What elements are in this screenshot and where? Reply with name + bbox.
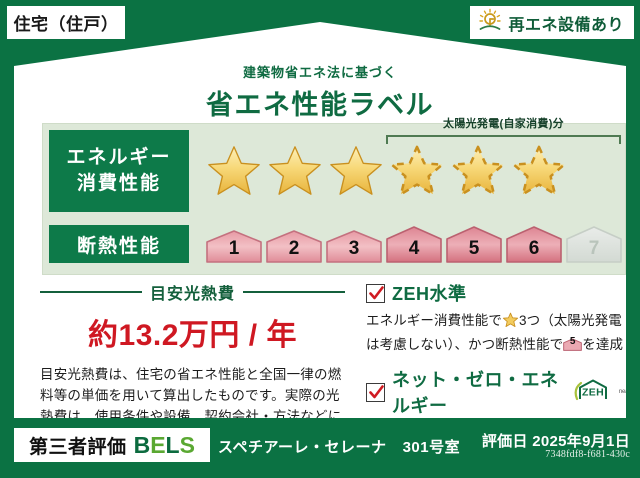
checkbox-checked-icon	[366, 284, 385, 303]
star-icon	[502, 312, 519, 334]
renewable-equipment-badge: 再エネ設備あり	[470, 6, 634, 39]
energy-star-rating: 太陽光発電(自家消費)分	[205, 143, 568, 199]
performance-panel: エネルギー 消費性能 太陽光発電(自家消費)分	[42, 123, 626, 275]
zeh-standard-title: ZEH水準	[392, 280, 467, 306]
label-sheet: 建築物省エネ法に基づく 省エネ性能ラベル エネルギー 消費性能 太陽光発電(自家…	[14, 22, 626, 418]
star-solar-6	[510, 143, 568, 199]
insulation-badge-4: 4	[385, 224, 443, 264]
star-filled-2	[266, 143, 324, 199]
insulation-badge-3: 3	[325, 228, 383, 264]
insulation-badge-2: 2	[265, 228, 323, 264]
zeh-standard-description: エネルギー消費性能で3つ（太陽光発電は考慮しない）、かつ断熱性能で5を達成	[366, 310, 634, 355]
utility-cost-heading: 目安光熱費	[40, 280, 345, 304]
energy-performance-row: エネルギー 消費性能 太陽光発電(自家消費)分	[49, 130, 568, 212]
star-filled-1	[205, 143, 263, 199]
housing-type-text: 住宅（住戸）	[14, 10, 119, 35]
solar-bracket: 太陽光発電(自家消費)分	[386, 117, 621, 143]
bels-logo: BELS	[134, 432, 195, 459]
title-subtitle: 建築物省エネ法に基づく	[14, 62, 626, 81]
insulation-badge-1: 1	[205, 228, 263, 264]
inline-insulation-badge-5: 5	[563, 336, 582, 353]
energy-performance-label: 住宅（住戸） 再エネ設備あり	[0, 0, 640, 478]
zeh-standard-claim: ZEH水準	[366, 280, 634, 306]
evaluation-date: 評価日 2025年9月1日	[482, 430, 630, 451]
sun-icon	[477, 8, 503, 37]
property-room: 301号室	[403, 439, 461, 456]
insulation-badge-6: 6	[505, 224, 563, 264]
housing-type-chip: 住宅（住戸）	[7, 6, 125, 39]
utility-cost-value: 約13.2万円 / 年	[40, 310, 345, 354]
energy-performance-label: エネルギー 消費性能	[49, 130, 189, 212]
title-block: 建築物省エネ法に基づく 省エネ性能ラベル	[14, 62, 626, 122]
utility-cost-heading-text: 目安光熱費	[150, 280, 235, 304]
utility-cost-section: 目安光熱費 約13.2万円 / 年 目安光熱費は、住宅の省エネ性能と全国一律の燃…	[40, 280, 345, 448]
insulation-level-badges: 1 2 3	[205, 224, 623, 264]
insulation-badge-7-inactive: 7	[565, 224, 623, 264]
zeh-house-logo-icon: ZEH	[572, 378, 612, 406]
third-party-text: 第三者評価	[29, 432, 127, 459]
renewable-badge-text: 再エネ設備あり	[508, 11, 624, 35]
property-name: スペチアーレ・セレーナ301号室	[218, 436, 460, 457]
net-zero-energy-title: ネット・ゼロ・エネルギー	[392, 366, 563, 418]
rule-right	[243, 291, 345, 293]
checkbox-checked-icon-2	[366, 383, 385, 402]
insulation-badge-5: 5	[445, 224, 503, 264]
bels-certification-chip: 第三者評価 BELS	[14, 428, 210, 462]
solar-caption: 太陽光発電(自家消費)分	[386, 115, 621, 131]
net-zero-energy-claim: ネット・ゼロ・エネルギー ZEH nearly	[366, 366, 634, 418]
insulation-performance-label: 断熱性能	[49, 225, 189, 263]
star-solar-4	[388, 143, 446, 199]
evaluation-id: 7348fdf8-f681-430c	[545, 449, 630, 460]
zeh-logo-subtext: nearly	[619, 389, 634, 395]
star-filled-3	[327, 143, 385, 199]
rule-left	[40, 291, 142, 293]
insulation-performance-row: 断熱性能	[49, 224, 623, 264]
svg-text:ZEH: ZEH	[582, 387, 604, 399]
star-solar-5	[449, 143, 507, 199]
